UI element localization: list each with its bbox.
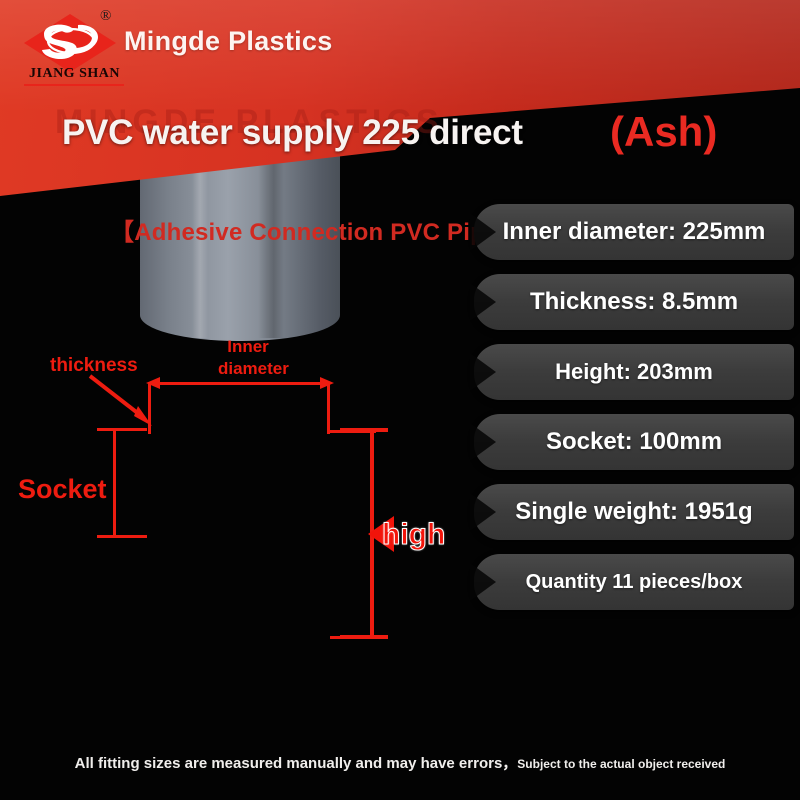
product-spec-card: MINGDE PLASTICS ® JIANG SHAN Mingde Plas… xyxy=(0,0,800,800)
spec-item-single-weight: Single weight: 1951g xyxy=(474,484,794,540)
color-variant-label: (Ash) xyxy=(610,108,717,156)
rim-reference-tick-right xyxy=(330,430,376,433)
spec-item-height: Height: 203mm xyxy=(474,344,794,400)
logo-underline xyxy=(24,84,124,86)
brand-logo: ® JIANG SHAN xyxy=(22,8,127,82)
product-subtitle: 【Adhesive Connection PVC Pipe】 xyxy=(110,212,523,247)
spec-label: Single weight: 1951g xyxy=(515,498,752,526)
footer-disclaimer: All fitting sizes are measured manually … xyxy=(0,752,800,773)
socket-dimension-line xyxy=(113,430,116,538)
spec-label: Socket: 100mm xyxy=(546,428,722,456)
inner-diameter-arrow-right-icon xyxy=(314,374,334,392)
inner-diameter-dimension-line xyxy=(148,382,330,385)
spec-item-inner-diameter: Inner diameter: 225mm xyxy=(474,204,794,260)
registered-trademark-icon: ® xyxy=(100,8,111,25)
spec-item-quantity: Quantity 11 pieces/box xyxy=(474,554,794,610)
inner-diameter-label-line1: Inner xyxy=(218,336,278,358)
spec-label: Inner diameter: 225mm xyxy=(503,218,766,246)
disclaimer-primary: All fitting sizes are measured manually … xyxy=(75,755,518,772)
base-reference-tick-right xyxy=(330,636,376,639)
js-monogram-icon xyxy=(38,20,102,62)
socket-tick-bottom xyxy=(97,535,147,538)
logo-wordmark: JIANG SHAN xyxy=(22,66,127,82)
spec-label: Thickness: 8.5mm xyxy=(530,288,738,316)
spec-item-socket: Socket: 100mm xyxy=(474,414,794,470)
spec-label: Quantity 11 pieces/box xyxy=(526,571,743,594)
company-name: Mingde Plastics xyxy=(124,26,333,57)
spec-label: Height: 203mm xyxy=(555,359,713,385)
page-title: PVC water supply 225 direct xyxy=(62,113,523,153)
spec-item-thickness: Thickness: 8.5mm xyxy=(474,274,794,330)
thickness-arrow-icon xyxy=(88,372,160,432)
height-label: high xyxy=(382,518,445,552)
socket-label: Socket xyxy=(18,474,107,505)
disclaimer-secondary: Subject to the actual object received xyxy=(517,757,725,771)
spec-list: Inner diameter: 225mm Thickness: 8.5mm H… xyxy=(474,204,794,624)
inner-diameter-label: Inner diameter xyxy=(218,336,278,380)
inner-diameter-label-line2: diameter xyxy=(218,358,278,380)
